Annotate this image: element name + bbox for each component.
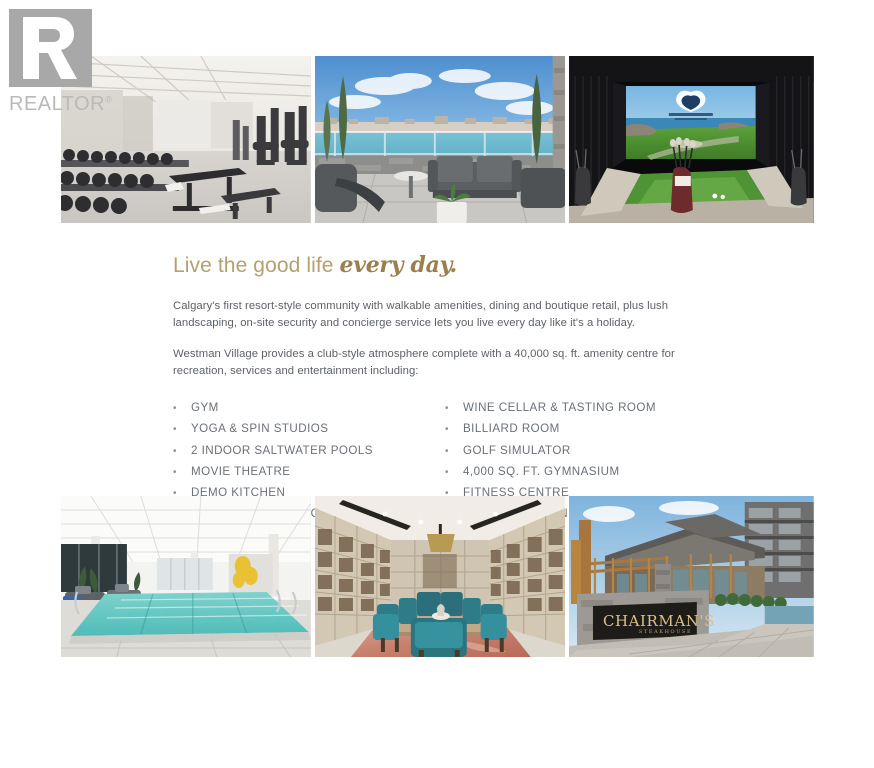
amenity-label: MOVIE THEATRE	[191, 462, 445, 482]
photo-golf-simulator	[569, 56, 814, 223]
realtor-r-mark-icon	[9, 9, 92, 87]
list-item: •BILLIARD ROOM	[445, 419, 713, 440]
list-item: •4,000 SQ. FT. GYMNASIUM	[445, 462, 713, 483]
photo-row-bottom: CHAIRMAN'S STEAKHOUSE	[61, 496, 814, 657]
amenity-label: YOGA & SPIN STUDIOS	[191, 419, 445, 439]
amenity-label: 2 INDOOR SALTWATER POOLS	[191, 441, 445, 461]
list-item: •WINE CELLAR & TASTING ROOM	[445, 398, 713, 419]
bullet-icon: •	[173, 442, 191, 462]
bullet-icon: •	[445, 463, 463, 483]
bullet-icon: •	[173, 463, 191, 483]
headline-light: Live the good life	[173, 254, 340, 277]
amenity-label: WINE CELLAR & TASTING ROOM	[463, 398, 713, 418]
registered-mark: ®	[105, 94, 112, 104]
bullet-icon: •	[445, 399, 463, 419]
chairmans-sign-sub: STEAKHOUSE	[639, 629, 692, 635]
realtor-wordmark: REALTOR®	[9, 93, 112, 116]
chairmans-sign-text: CHAIRMAN'S	[603, 612, 715, 630]
bullet-icon: •	[445, 420, 463, 440]
amenity-label: GYM	[191, 398, 445, 418]
content-block: Live the good life every day. Calgary's …	[173, 252, 713, 526]
list-item: •MOVIE THEATRE	[173, 462, 445, 483]
list-item: •GOLF SIMULATOR	[445, 441, 713, 462]
bullet-icon: •	[173, 420, 191, 440]
list-item: •YOGA & SPIN STUDIOS	[173, 419, 445, 440]
realtor-wordmark-text: REALTOR	[9, 93, 105, 115]
list-item: •2 INDOOR SALTWATER POOLS	[173, 441, 445, 462]
bullet-icon: •	[445, 442, 463, 462]
brochure-page: REALTOR®	[0, 0, 874, 768]
photo-rooftop-terrace	[315, 56, 566, 223]
list-item: •GYM	[173, 398, 445, 419]
photo-wine-tasting-room	[315, 496, 566, 657]
paragraph-1: Calgary's first resort-style community w…	[173, 298, 713, 331]
photo-chairmans-steakhouse: CHAIRMAN'S STEAKHOUSE	[569, 496, 814, 657]
headline-accent: every day.	[340, 252, 457, 278]
photo-indoor-pool	[61, 496, 311, 657]
page-title: Live the good life every day.	[173, 252, 713, 278]
amenity-label: 4,000 SQ. FT. GYMNASIUM	[463, 462, 713, 482]
amenity-label: BILLIARD ROOM	[463, 419, 713, 439]
photo-row-top	[61, 56, 814, 223]
amenity-label: GOLF SIMULATOR	[463, 441, 713, 461]
bullet-icon: •	[173, 399, 191, 419]
paragraph-2: Westman Village provides a club-style at…	[173, 346, 713, 379]
realtor-logo: REALTOR®	[9, 9, 105, 117]
